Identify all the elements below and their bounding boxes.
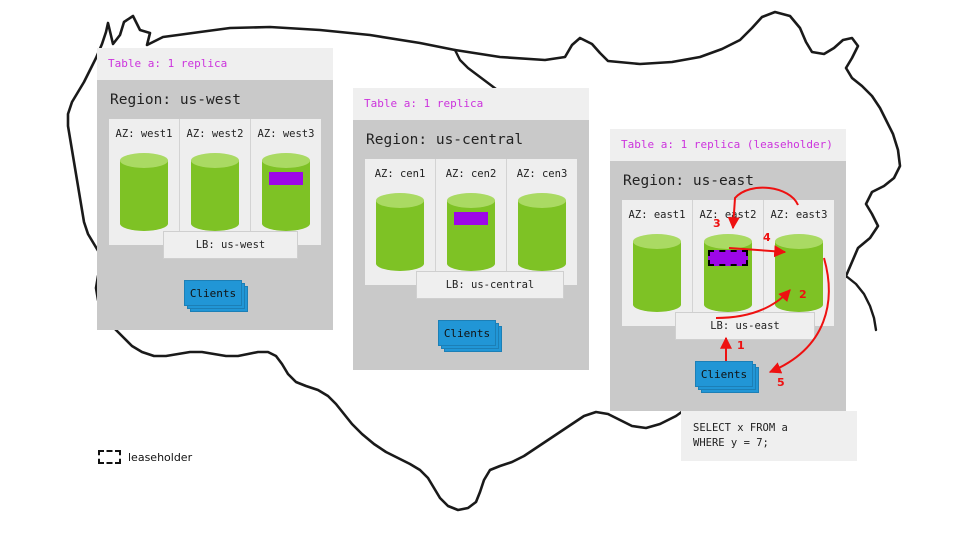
cylinder-top <box>376 193 424 208</box>
clients-card-front[interactable]: Clients <box>438 320 496 346</box>
az-label-west3: AZ: west3 <box>251 128 321 140</box>
clients-us-west[interactable]: Clients <box>184 280 242 306</box>
leaseholder-swatch-icon <box>98 450 121 464</box>
legend: leaseholder <box>98 450 192 464</box>
region-header-us-east: Table a: 1 replica (leaseholder) <box>610 129 846 161</box>
cylinder-body <box>518 200 566 264</box>
clients-us-central[interactable]: Clients <box>438 320 496 346</box>
az-row-us-east: AZ: east1 AZ: east2 AZ: east3 <box>622 200 834 326</box>
arrow-label-2: 2 <box>799 288 807 301</box>
region-panel-us-central: Table a: 1 replica Region: us-central AZ… <box>353 88 589 370</box>
az-cen1[interactable]: AZ: cen1 <box>365 159 436 285</box>
arrow-label-3: 3 <box>713 217 721 230</box>
az-cen3[interactable]: AZ: cen3 <box>507 159 577 285</box>
az-label-east1: AZ: east1 <box>622 209 692 221</box>
node-cylinder-cen3[interactable] <box>518 193 566 271</box>
arrow-label-1: 1 <box>737 339 745 352</box>
legend-label: leaseholder <box>128 451 192 464</box>
region-panel-us-east: Table a: 1 replica (leaseholder) Region:… <box>610 129 846 411</box>
az-label-cen2: AZ: cen2 <box>436 168 506 180</box>
cylinder-body <box>262 160 310 224</box>
clients-card-front[interactable]: Clients <box>184 280 242 306</box>
region-header-us-west: Table a: 1 replica <box>97 48 333 80</box>
cylinder-top <box>191 153 239 168</box>
node-cylinder-west3[interactable] <box>262 153 310 231</box>
az-label-cen1: AZ: cen1 <box>365 168 435 180</box>
node-cylinder-cen2[interactable] <box>447 193 495 271</box>
node-cylinder-east1[interactable] <box>633 234 681 312</box>
node-cylinder-cen1[interactable] <box>376 193 424 271</box>
az-west2[interactable]: AZ: west2 <box>180 119 251 245</box>
cylinder-body <box>120 160 168 224</box>
load-balancer-us-west[interactable]: LB: us-west <box>163 231 298 259</box>
clients-card-front[interactable]: Clients <box>695 361 753 387</box>
node-cylinder-west2[interactable] <box>191 153 239 231</box>
region-panel-us-west: Table a: 1 replica Region: us-west AZ: w… <box>97 48 333 330</box>
az-east1[interactable]: AZ: east1 <box>622 200 693 326</box>
az-label-east3: AZ: east3 <box>764 209 834 221</box>
region-title-us-east: Region: us-east <box>610 161 846 200</box>
az-label-west1: AZ: west1 <box>109 128 179 140</box>
az-cen2[interactable]: AZ: cen2 <box>436 159 507 285</box>
region-title-us-west: Region: us-west <box>97 80 333 119</box>
az-east2[interactable]: AZ: east2 <box>693 200 764 326</box>
region-header-us-central: Table a: 1 replica <box>353 88 589 120</box>
diagram-canvas: Table a: 1 replica Region: us-west AZ: w… <box>0 0 960 540</box>
az-west3[interactable]: AZ: west3 <box>251 119 321 245</box>
az-label-west2: AZ: west2 <box>180 128 250 140</box>
replica-bar-west3 <box>269 172 303 185</box>
cylinder-top <box>633 234 681 249</box>
arrow-label-5: 5 <box>777 376 785 389</box>
leaseholder-bar-east2 <box>708 250 748 266</box>
az-west1[interactable]: AZ: west1 <box>109 119 180 245</box>
arrow-label-4: 4 <box>763 231 771 244</box>
cylinder-top <box>120 153 168 168</box>
load-balancer-us-central[interactable]: LB: us-central <box>416 271 564 299</box>
az-row-us-central: AZ: cen1 AZ: cen2 AZ: cen3 <box>365 159 577 285</box>
az-label-cen3: AZ: cen3 <box>507 168 577 180</box>
clients-us-east[interactable]: Clients <box>695 361 753 387</box>
cylinder-top <box>775 234 823 249</box>
az-east3[interactable]: AZ: east3 <box>764 200 834 326</box>
cylinder-body <box>376 200 424 264</box>
load-balancer-us-east[interactable]: LB: us-east <box>675 312 815 340</box>
sql-query-box: SELECT x FROM a WHERE y = 7; <box>681 411 857 461</box>
region-title-us-central: Region: us-central <box>353 120 589 159</box>
cylinder-top <box>447 193 495 208</box>
cylinder-body <box>191 160 239 224</box>
cylinder-body <box>633 241 681 305</box>
cylinder-top <box>704 234 752 249</box>
cylinder-top <box>262 153 310 168</box>
az-label-east2: AZ: east2 <box>693 209 763 221</box>
node-cylinder-west1[interactable] <box>120 153 168 231</box>
az-row-us-west: AZ: west1 AZ: west2 AZ: west3 <box>109 119 321 245</box>
cylinder-top <box>518 193 566 208</box>
replica-bar-cen2 <box>454 212 488 225</box>
cylinder-body <box>447 200 495 264</box>
node-cylinder-east2[interactable] <box>704 234 752 312</box>
